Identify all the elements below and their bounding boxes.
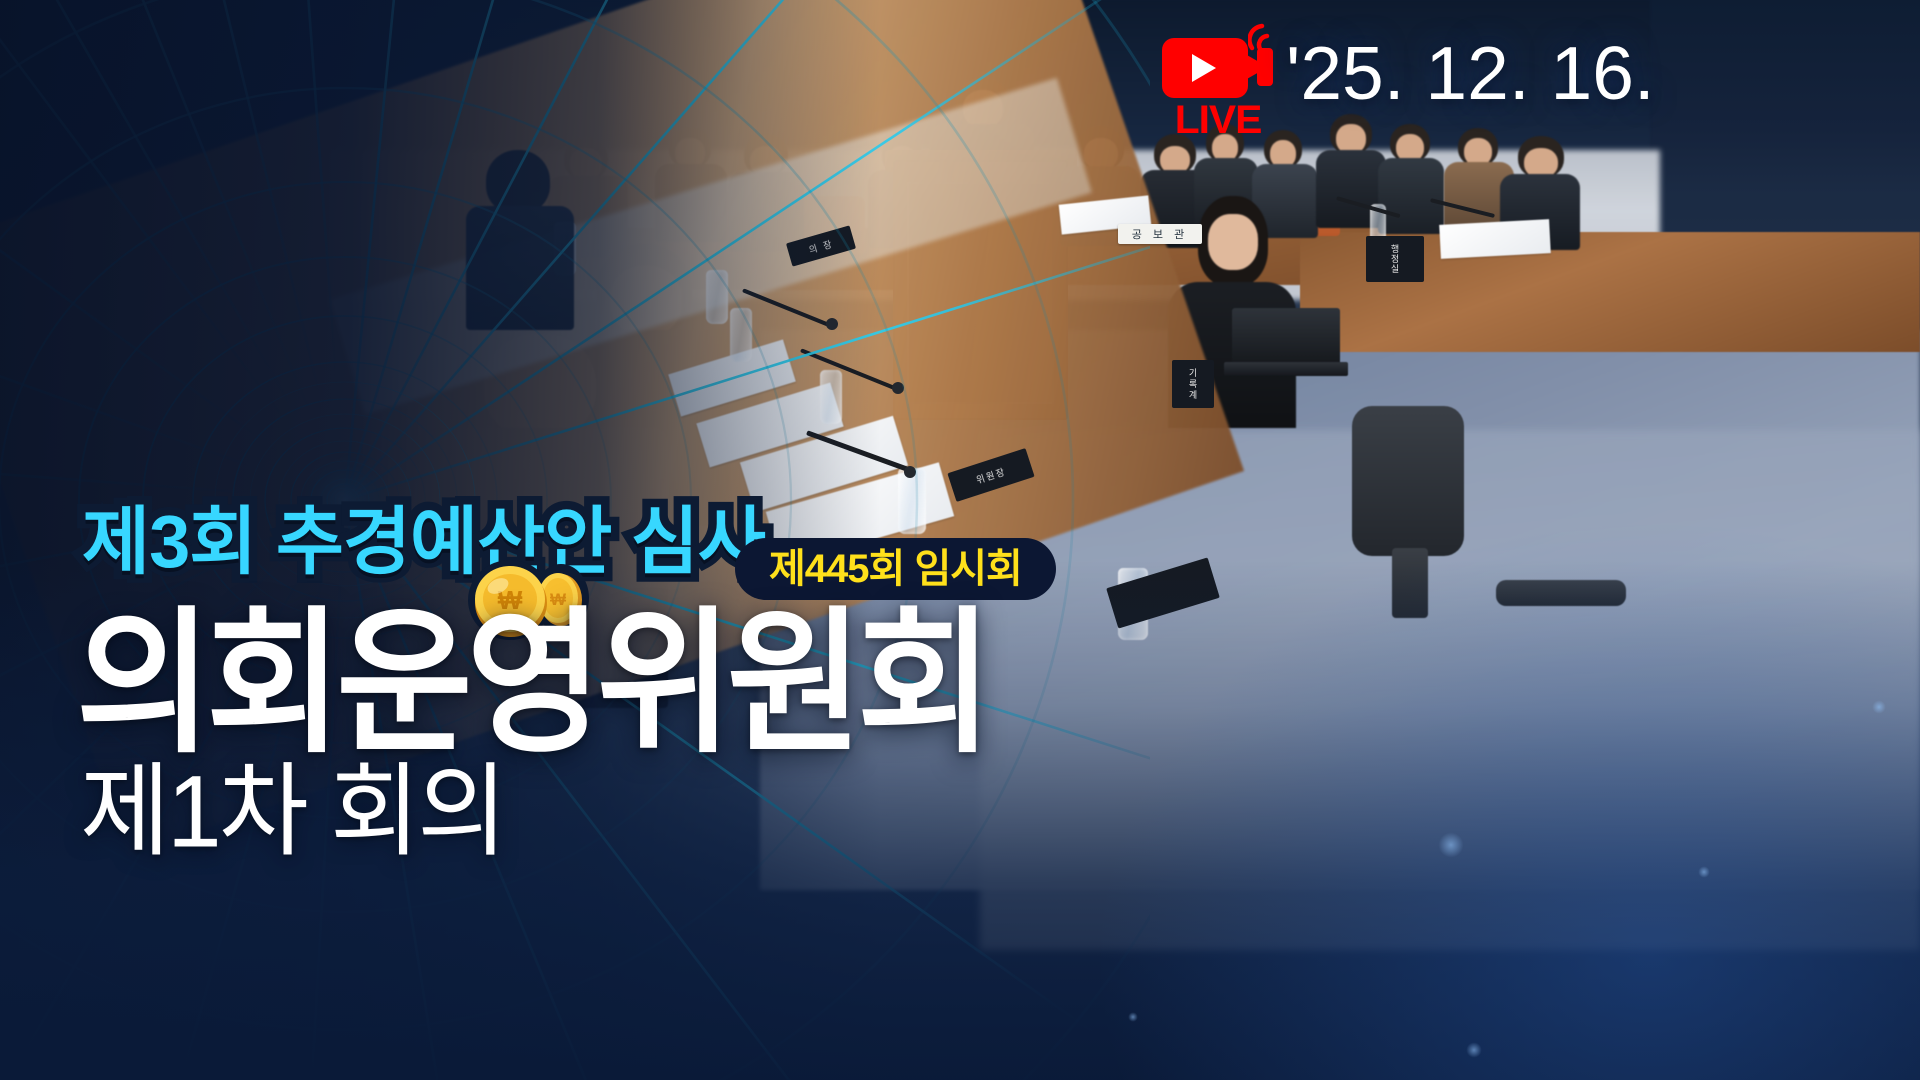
live-badge: LIVE [1158,24,1278,154]
laptop-base [1224,362,1348,376]
water-bottle [898,468,926,534]
live-label: LIVE [1157,100,1279,140]
bokeh-dot [1698,866,1710,878]
nameplate: 기록계 [1172,360,1214,408]
bokeh-dot [1466,1042,1482,1058]
person [1378,124,1444,232]
broadcast-date: '25. 12. 16. [1286,36,1655,111]
session-badge-label: 제445회 임시회 [769,549,1022,589]
laptop [1232,308,1340,366]
paper [1439,219,1551,259]
meeting-subtitle: 제1차 회의 [80,760,504,862]
bokeh-dot [1872,700,1886,714]
topic-line: 제3회 추경예산안 심사 [82,505,765,579]
nameplate: 공 보 관 [1118,224,1202,244]
committee-title: 의회운영위원회 [76,606,987,763]
bokeh-dot [1438,832,1464,858]
right-glow-overlay [1020,460,1920,1080]
session-badge: 제445회 임시회 [735,538,1056,600]
bokeh-dot [1128,1012,1138,1022]
broadcast-thumbnail: 공 보 관 의 장 위원장 행정실 기록계 [0,0,1920,1080]
video-camera-live-icon [1162,24,1274,98]
nameplate: 행정실 [1366,236,1424,282]
microphone-head [892,382,904,394]
microphone-head [904,466,916,478]
